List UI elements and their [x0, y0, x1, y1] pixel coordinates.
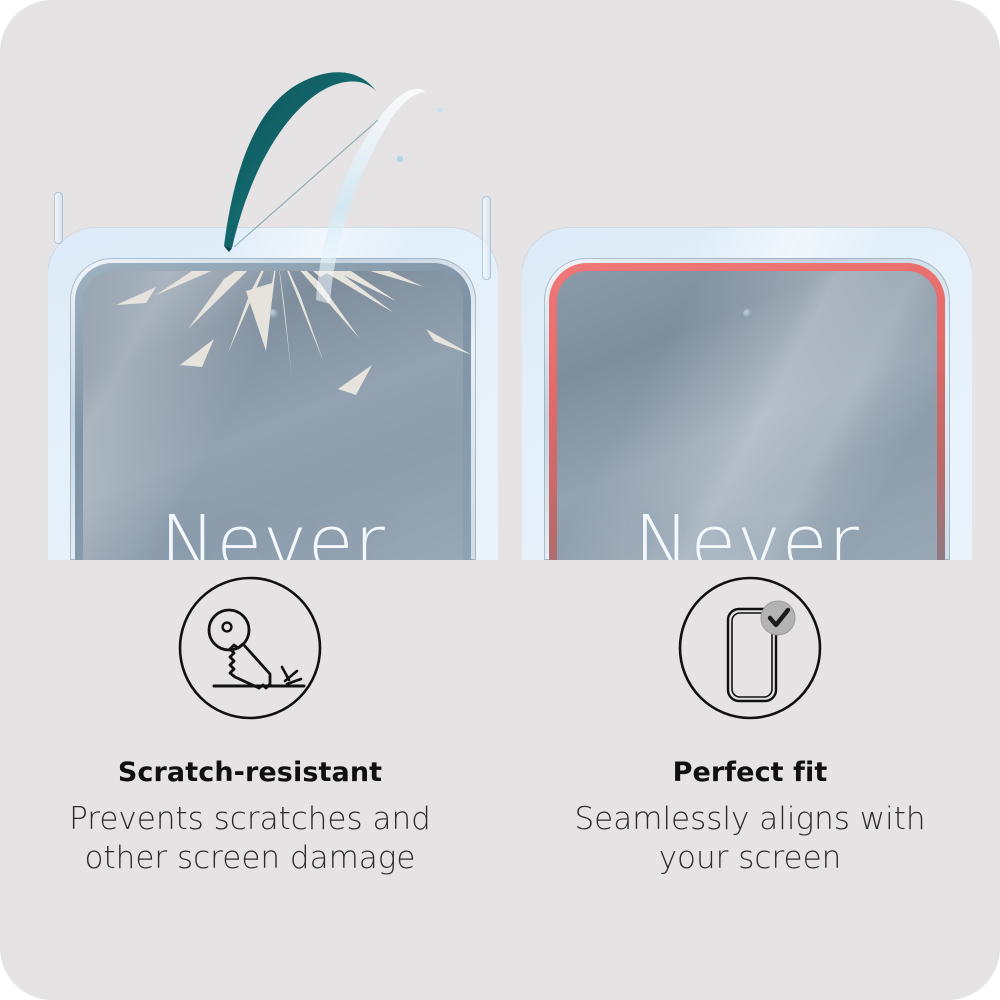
feature-scratch-resistant: Scratch-resistant Prevents scratches and… — [0, 575, 500, 878]
key-scratching-surface-icon — [177, 575, 323, 721]
screen-wallpaper-text: Never — [83, 500, 463, 560]
perfect-fit-phone-panel: Never — [522, 0, 972, 560]
phone-device-left: Never — [70, 258, 476, 560]
screen-wallpaper-text: Never — [557, 500, 937, 560]
infographic-canvas: Never — [0, 0, 1000, 1000]
feature-title: Scratch-resistant — [118, 757, 382, 788]
feature-description: Prevents scratches and other screen dama… — [50, 800, 450, 878]
phone-screen-left: Never — [83, 271, 463, 560]
protected-phone-panel: Never — [48, 0, 498, 560]
front-camera-dot — [269, 309, 278, 318]
product-imagery-row: Never — [0, 0, 1000, 560]
feature-perfect-fit: Perfect fit Seamlessly aligns with your … — [500, 575, 1000, 878]
glint-a — [397, 156, 403, 162]
side-button-right-power — [482, 196, 491, 280]
phone-screen-right: Never — [557, 271, 937, 560]
glint-b — [438, 108, 443, 113]
blade-body — [224, 72, 378, 248]
front-camera-dot — [743, 309, 752, 318]
feature-title: Perfect fit — [673, 757, 828, 788]
phone-device-right: Never — [544, 258, 950, 560]
feature-highlights-row: Scratch-resistant Prevents scratches and… — [0, 575, 1000, 878]
feature-description: Seamlessly aligns with your screen — [550, 800, 950, 878]
side-button-left-volume — [54, 192, 63, 244]
phone-with-checkmark-icon — [677, 575, 823, 721]
